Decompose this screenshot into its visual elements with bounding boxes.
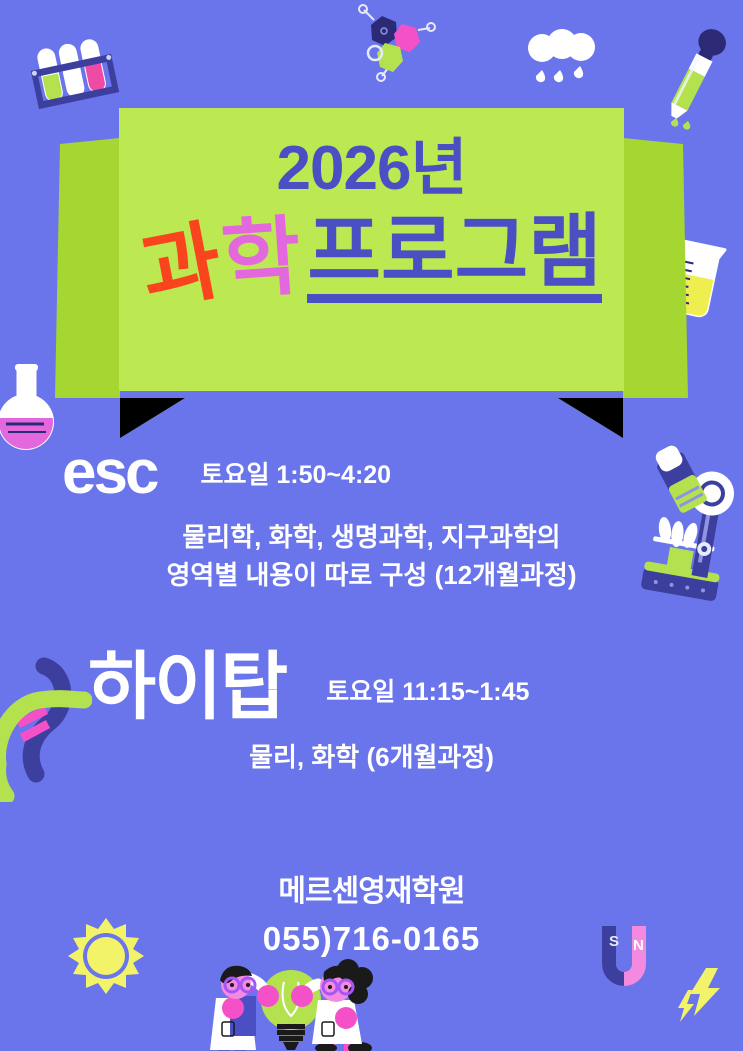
program-block-esc: esc 토요일 1:50~4:20 물리학, 화학, 생명과학, 지구과학의 영… [0,442,743,595]
scientists-lightbulb-illustration [196,956,386,1051]
molecule-icon [352,0,442,89]
contact-footer: 메르센영재학원 055)716-0165 [0,866,743,958]
program-esc-logo: esc [62,442,156,504]
banner-ribbon-shape [0,108,743,438]
academy-name: 메르센영재학원 [0,866,743,910]
title-banner: 2026년 과 학 프로그램 [0,108,743,438]
program-esc-schedule: 토요일 1:50~4:20 [200,455,391,491]
program-esc-description: 물리학, 화학, 생명과학, 지구과학의 영역별 내용이 따로 구성 (12개월… [0,518,743,595]
program-esc-header: esc 토요일 1:50~4:20 [0,442,743,504]
lightning-bolt-icon [676,966,738,1033]
science-program-poster: S N [0,0,743,1051]
program-hitop-description: 물리, 화학 (6개월과정) [0,738,743,776]
program-hitop-description-line1: 물리, 화학 (6개월과정) [0,738,743,776]
program-block-hitop: 하이탑 토요일 11:15~1:45 물리, 화학 (6개월과정) [0,650,743,776]
program-esc-description-line1: 물리학, 화학, 생명과학, 지구과학의 [0,518,743,556]
program-esc-description-line2: 영역별 내용이 따로 구성 (12개월과정) [0,556,743,594]
program-hitop-logo: 하이탑 [88,650,286,724]
rain-cloud-icon [522,24,606,99]
phone-number: 055)716-0165 [0,920,743,958]
program-hitop-schedule: 토요일 11:15~1:45 [326,672,529,724]
program-hitop-header: 하이탑 토요일 11:15~1:45 [0,650,743,724]
